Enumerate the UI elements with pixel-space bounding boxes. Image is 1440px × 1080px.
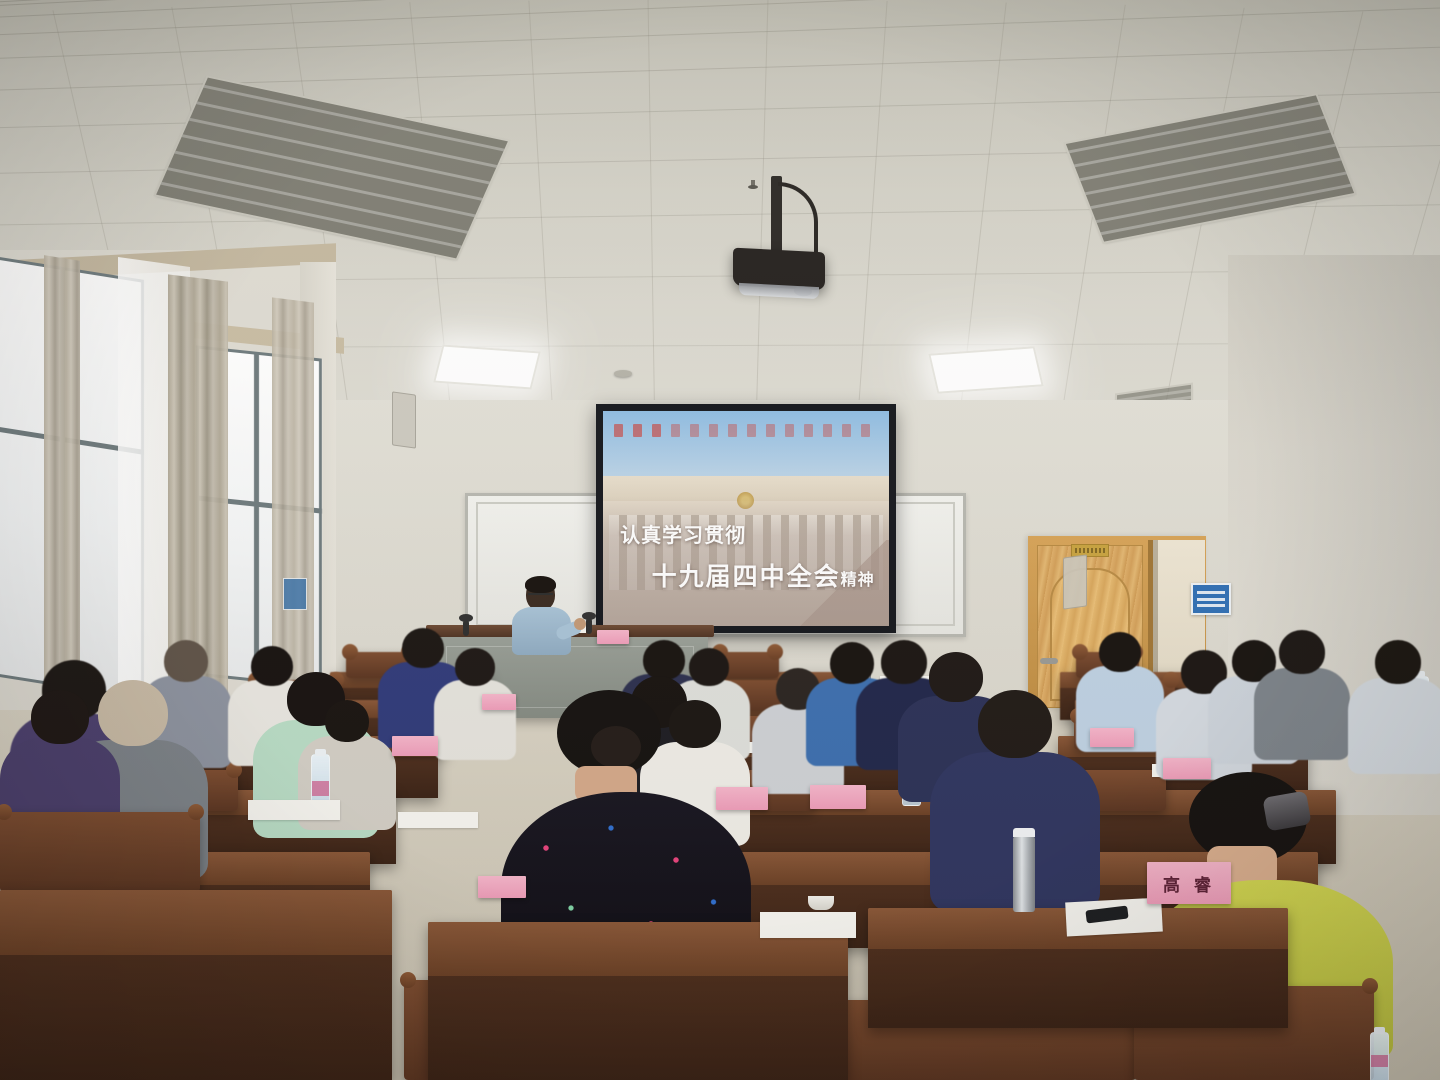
meeting-room-photo: 认真学习贯彻 十九届四中全会精神 <box>0 0 1440 1080</box>
ceiling-grid-line <box>858 1 888 410</box>
led-panel-light-icon <box>928 346 1043 394</box>
speaker-hand <box>574 618 586 630</box>
projector-lens-icon <box>794 286 812 297</box>
desk <box>0 890 392 1080</box>
ceiling-grid-line <box>648 0 655 410</box>
smoke-detector-icon <box>614 370 632 377</box>
name-card <box>716 787 768 810</box>
slide-headline-2-small: 精神 <box>841 570 875 589</box>
attendee-head <box>830 642 874 684</box>
chair[interactable] <box>0 812 200 892</box>
ceiling-grid-line <box>0 3 1440 63</box>
name-card <box>392 736 438 756</box>
slide-headline-1: 认真学习贯彻 <box>620 519 746 548</box>
paper-sheet <box>248 800 340 820</box>
cup-icon <box>808 896 834 910</box>
attendee-head <box>978 690 1052 758</box>
attendee-head <box>98 680 168 746</box>
attendee-head <box>881 640 927 684</box>
attendee-head <box>1375 640 1421 684</box>
speaker-glasses-icon <box>528 593 553 595</box>
name-card <box>1090 728 1134 747</box>
projection-screen-surface: 认真学习贯彻 十九届四中全会精神 <box>603 411 889 626</box>
wall-sign-blue <box>1191 583 1231 615</box>
attendee-head <box>164 640 208 682</box>
attendee-head <box>325 700 369 742</box>
slide-headline-2: 十九届四中全会精神 <box>652 557 875 593</box>
microphone-icon <box>463 620 469 636</box>
projection-screen: 认真学习贯彻 十九届四中全会精神 <box>596 404 896 633</box>
ceiling-grid-line <box>528 1 553 410</box>
projector-icon <box>733 248 825 291</box>
name-card <box>1163 758 1211 779</box>
water-bottle-icon <box>1370 1032 1389 1080</box>
attendee-torso <box>434 680 516 760</box>
curtain[interactable] <box>272 297 314 702</box>
attendee-head <box>402 628 444 668</box>
ceiling-grid-line <box>756 0 768 410</box>
name-card <box>810 785 866 809</box>
ceiling-grid-line <box>0 0 1440 23</box>
attendee-head <box>929 652 983 702</box>
paper-sheet <box>398 812 478 828</box>
paper-sheet <box>760 912 856 938</box>
curtain[interactable] <box>44 255 80 691</box>
attendee-head <box>251 646 293 686</box>
floral-woman-bun <box>591 726 641 768</box>
attendee-head <box>31 690 89 744</box>
microphone-icon <box>586 618 592 634</box>
speaker-hair <box>525 576 556 593</box>
sprinkler-head-icon <box>748 180 758 188</box>
led-panel-light-icon <box>433 345 541 390</box>
attendee-head <box>689 648 729 686</box>
door-handle-icon[interactable] <box>1040 658 1058 664</box>
name-card <box>478 876 526 898</box>
attendee-head <box>669 700 721 748</box>
wall-speaker-icon <box>392 391 416 448</box>
thermos-icon <box>1013 836 1035 912</box>
attendee-head <box>1279 630 1325 674</box>
wall-sign-blue <box>283 578 307 610</box>
wall-speaker-icon <box>1063 554 1087 609</box>
attendee-head <box>1099 632 1141 672</box>
slide-headline-2-main: 十九届四中全会 <box>652 562 841 591</box>
name-card: 高 睿 <box>1147 862 1231 904</box>
attendee-head <box>643 640 685 680</box>
attendee-torso <box>1348 678 1440 774</box>
attendee-head <box>455 648 495 686</box>
desk <box>428 922 848 1080</box>
name-card <box>482 694 516 710</box>
attendee-torso <box>1254 668 1350 760</box>
name-card <box>597 630 629 644</box>
curtain[interactable] <box>168 274 228 701</box>
